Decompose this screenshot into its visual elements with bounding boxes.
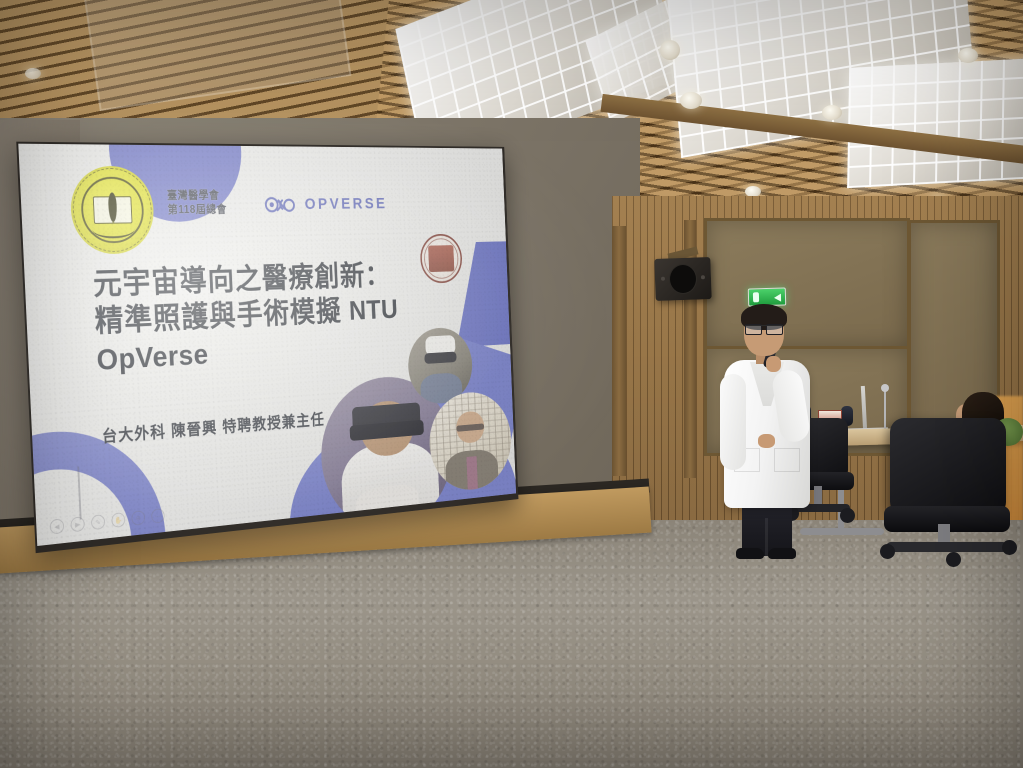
slide-title-line2-cjk: 精準照護與手術模擬 bbox=[94, 295, 350, 339]
physician-portrait-photo bbox=[428, 390, 513, 494]
office-chair-back bbox=[890, 418, 1006, 516]
previous-slide-button[interactable]: ◀ bbox=[49, 518, 64, 534]
more-options-button[interactable]: ⋯ bbox=[151, 508, 165, 524]
trouser-seam bbox=[765, 518, 768, 556]
next-slide-button[interactable]: ▶ bbox=[70, 516, 85, 532]
presenter-shoe bbox=[768, 548, 796, 559]
pointer-options-button[interactable]: ✋ bbox=[111, 512, 125, 528]
slide-presenter-line: 台大外科 陳晉興 特聘教授兼主任 bbox=[101, 407, 325, 447]
presenter-shoe bbox=[736, 548, 764, 559]
presenter-hand bbox=[766, 356, 781, 372]
recessed-downlight bbox=[680, 92, 702, 109]
opverse-logo-text: OPVERSE bbox=[304, 195, 387, 214]
recessed-downlight bbox=[25, 68, 41, 79]
presenter-arm bbox=[720, 374, 746, 470]
presentation-slide[interactable]: 臺灣醫學會 第118屆總會 OPVERSE bbox=[18, 144, 516, 546]
chair-caster bbox=[1002, 540, 1017, 555]
laurel-icon bbox=[92, 220, 135, 238]
office-chair-base bbox=[886, 542, 1008, 552]
vr-headset-visor bbox=[425, 351, 457, 363]
speaker-bolt bbox=[661, 277, 665, 281]
presenter-person bbox=[714, 308, 824, 558]
speaker-cone-icon bbox=[668, 264, 697, 295]
chair-caster bbox=[880, 544, 895, 559]
association-name: 臺灣醫學會 第118屆總會 bbox=[167, 189, 227, 218]
pen-tool-button[interactable]: ✎ bbox=[91, 514, 106, 530]
association-line2: 第118屆總會 bbox=[167, 203, 227, 218]
speaker-bolt bbox=[701, 275, 705, 279]
zoom-button[interactable]: ⊕ bbox=[131, 510, 145, 526]
recessed-downlight bbox=[660, 40, 680, 60]
eyeglasses-bridge bbox=[745, 325, 783, 334]
microphone-head-icon bbox=[881, 384, 889, 392]
microphone-stand bbox=[884, 388, 886, 432]
lab-coat-pocket bbox=[774, 448, 800, 472]
projection-screen[interactable]: 臺灣醫學會 第118屆總會 OPVERSE bbox=[16, 142, 518, 554]
ceiling-light-fixture bbox=[847, 56, 1023, 188]
association-line1: 臺灣醫學會 bbox=[167, 189, 227, 204]
wall-mounted-loudspeaker bbox=[654, 257, 711, 301]
presentation-room-photo: 臺灣醫學會 第118屆總會 OPVERSE bbox=[0, 0, 1023, 768]
opverse-infinity-icon bbox=[263, 194, 298, 215]
person-shirt bbox=[467, 456, 478, 490]
opverse-logo: OPVERSE bbox=[263, 194, 388, 215]
chair-caster bbox=[840, 508, 855, 523]
chair-caster bbox=[946, 552, 961, 567]
exit-arrow-icon bbox=[774, 294, 781, 302]
recessed-downlight bbox=[958, 48, 978, 63]
running-man-icon bbox=[753, 292, 759, 302]
projection-screen-area: 臺灣醫學會 第118屆總會 OPVERSE bbox=[0, 120, 640, 570]
presenter-hand bbox=[758, 434, 775, 448]
recessed-downlight bbox=[822, 105, 842, 120]
